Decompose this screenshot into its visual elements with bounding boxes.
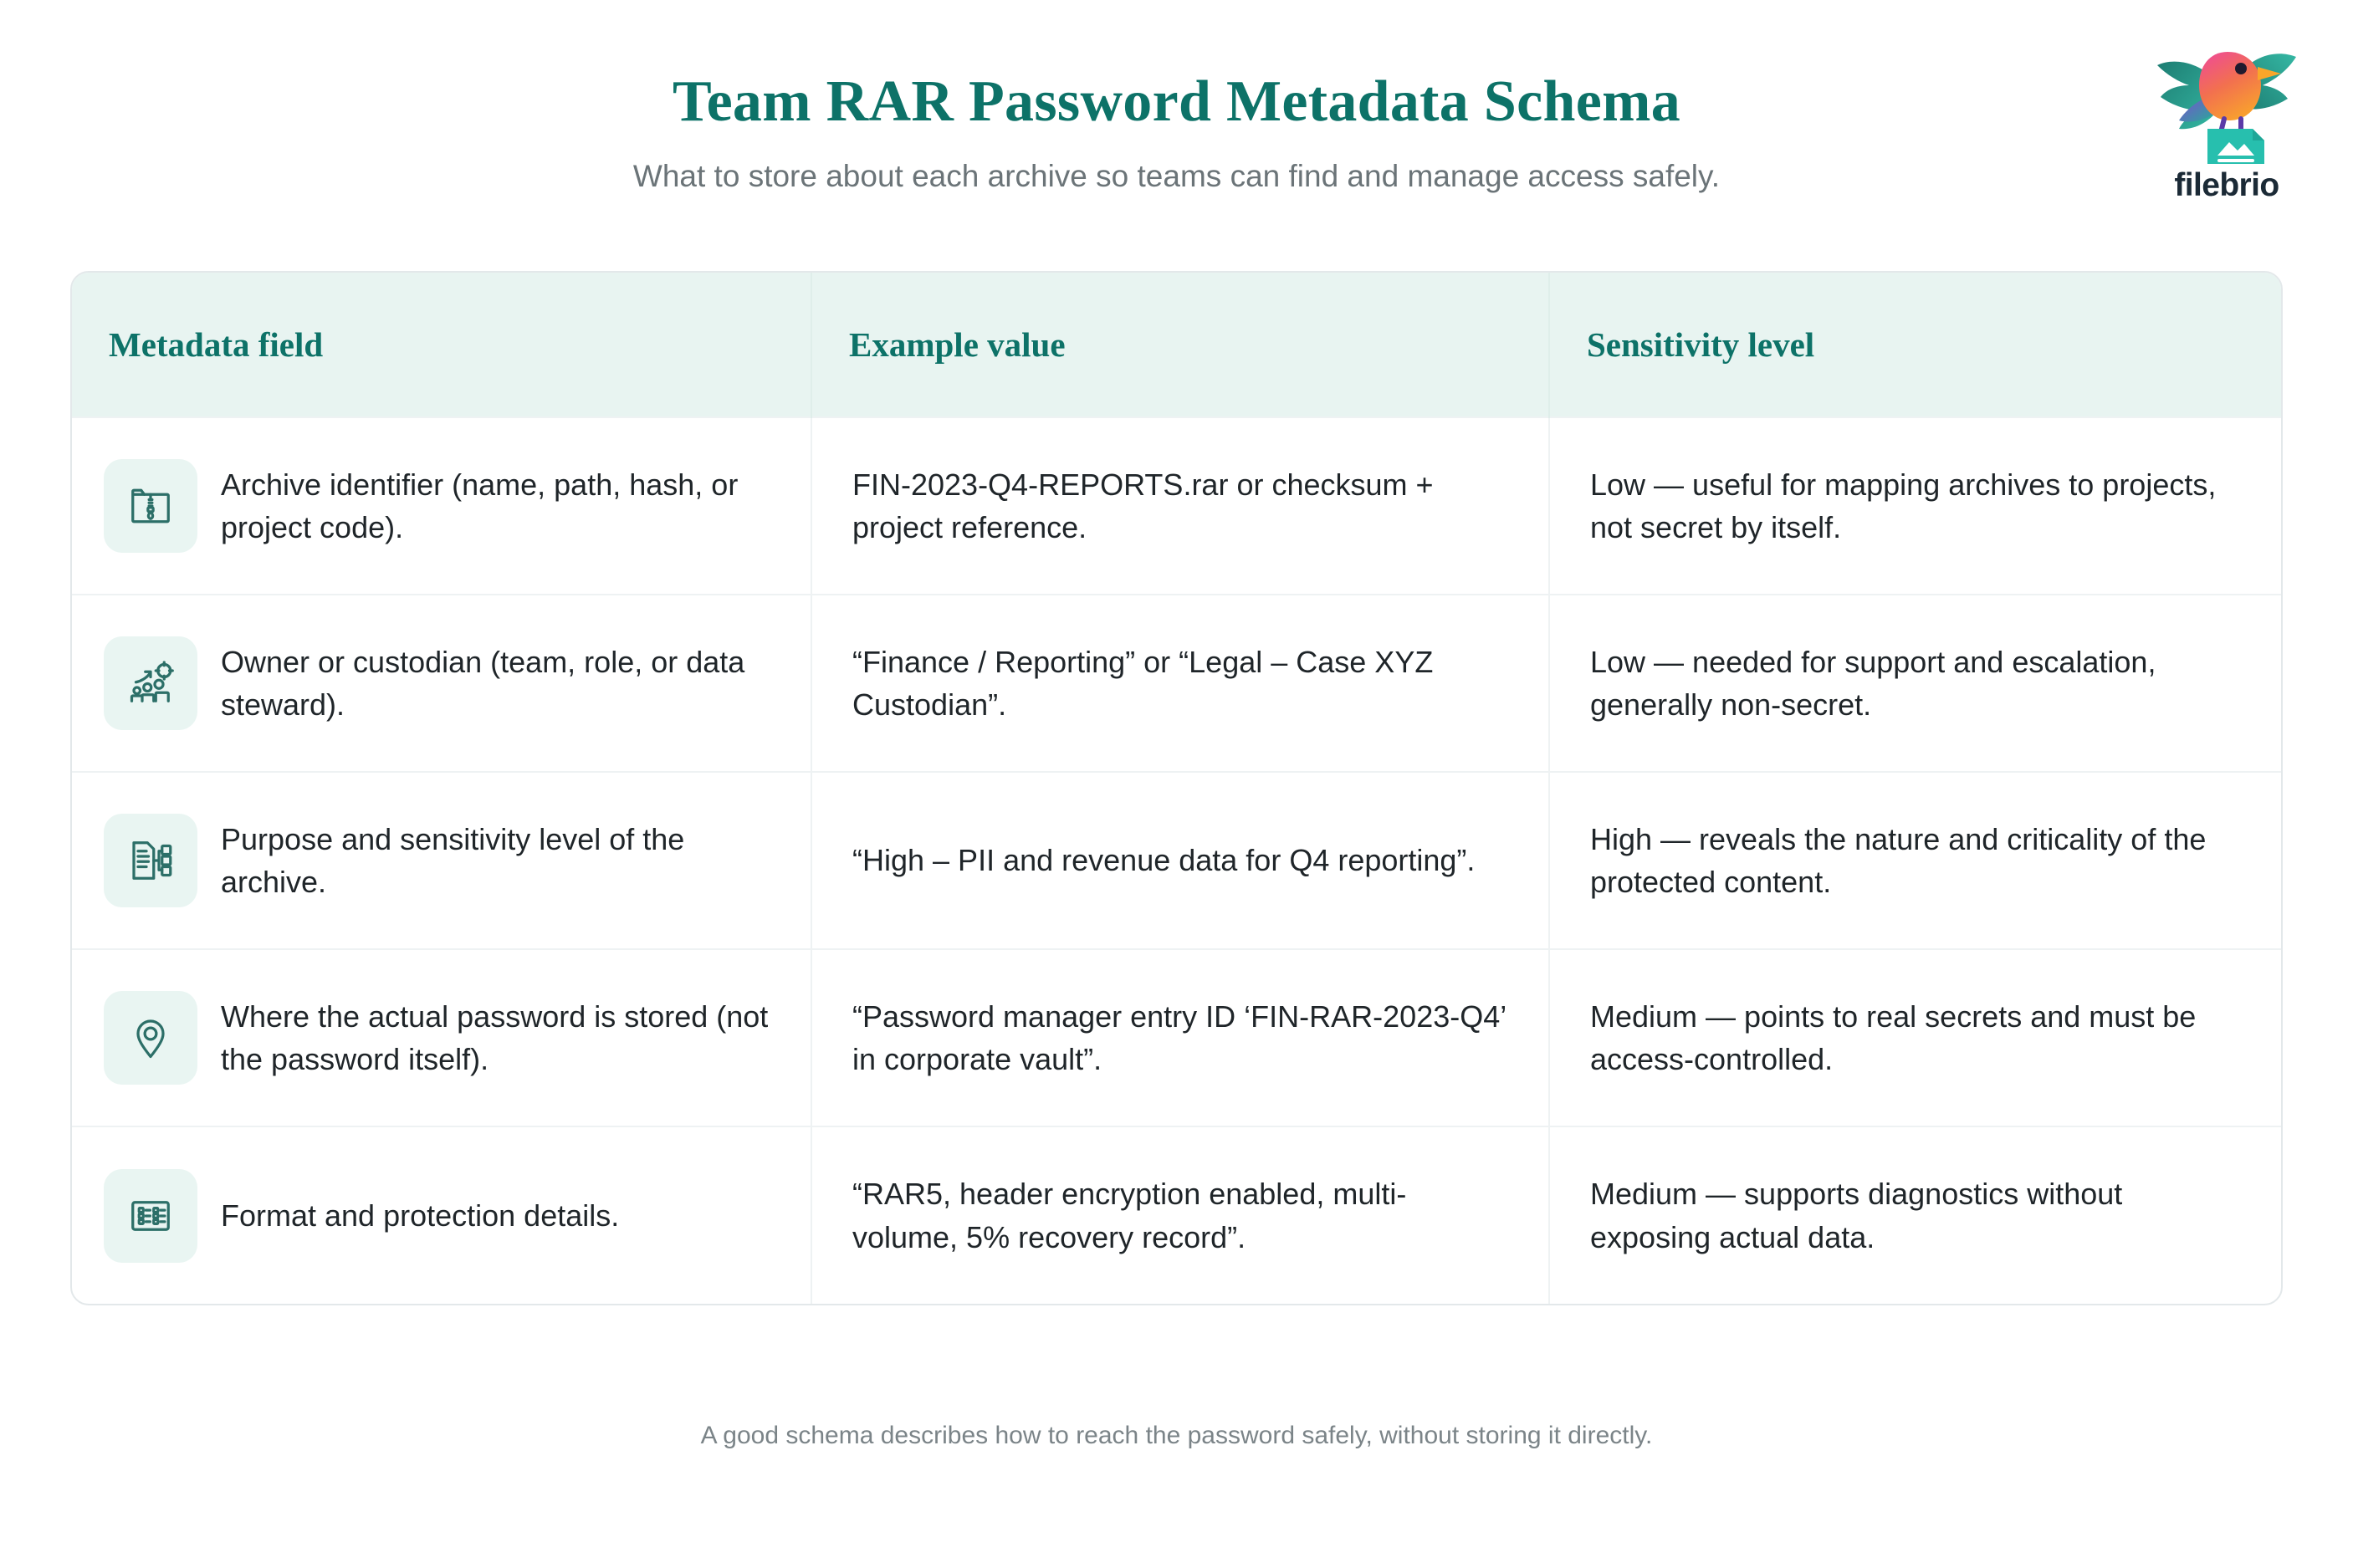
example-value-text: “RAR5, header encryption enabled, multi-… [852,1177,1406,1254]
example-value-cell: “Password manager entry ID ‘FIN-RAR-2023… [811,949,1549,1126]
filebrio-bird-logo [2147,38,2306,164]
metadata-field-text: Where the actual password is stored (not… [221,995,774,1080]
example-value-text: “Finance / Reporting” or “Legal – Case X… [852,645,1433,722]
metadata-field-cell: Purpose and sensitivity level of the arc… [72,772,811,949]
page-header: Team RAR Password Metadata Schema What t… [0,0,2353,194]
infographic-page: Team RAR Password Metadata Schema What t… [0,0,2353,1568]
sensitivity-level-text: Low — needed for support and escalation,… [1590,645,2156,722]
page-subtitle: What to store about each archive so team… [0,159,2353,194]
logo-wordmark: filebrio [2136,167,2318,204]
example-value-cell: “RAR5, header encryption enabled, multi-… [811,1126,1549,1304]
table-row: Archive identifier (name, path, hash, or… [72,417,2283,595]
sensitivity-level-text: Medium — points to real secrets and must… [1590,999,2196,1076]
metadata-field-text: Archive identifier (name, path, hash, or… [221,463,774,549]
sensitivity-level-text: Low — useful for mapping archives to pro… [1590,467,2216,544]
example-value-cell: “High – PII and revenue data for Q4 repo… [811,772,1549,949]
metadata-field-cell: Where the actual password is stored (not… [72,949,811,1126]
sensitivity-level-cell: High — reveals the nature and criticalit… [1549,772,2283,949]
zip-folder-icon [104,459,197,553]
sensitivity-level-text: High — reveals the nature and criticalit… [1590,822,2206,899]
schema-table: Metadata field Example value Sensitivity… [72,273,2283,1304]
table-row: Owner or custodian (team, role, or data … [72,595,2283,772]
location-pin-icon [104,991,197,1085]
metadata-field-text: Owner or custodian (team, role, or data … [221,641,774,726]
brand-logo: filebrio [2136,38,2318,204]
schema-table-card: Metadata field Example value Sensitivity… [70,271,2283,1305]
table-header-row: Metadata field Example value Sensitivity… [72,273,2283,417]
metadata-field-text: Purpose and sensitivity level of the arc… [221,818,774,903]
column-header-sensitivity-level: Sensitivity level [1549,273,2283,417]
table-row: Where the actual password is stored (not… [72,949,2283,1126]
sensitivity-level-text: Medium — supports diagnostics without ex… [1590,1177,2122,1254]
team-growth-target-icon [104,636,197,730]
sensitivity-level-cell: Medium — points to real secrets and must… [1549,949,2283,1126]
example-value-text: FIN-2023-Q4-REPORTS.rar or checksum + pr… [852,467,1434,544]
column-header-metadata-field: Metadata field [72,273,811,417]
metadata-field-text: Format and protection details. [221,1194,619,1237]
table-row: Format and protection details. “RAR5, he… [72,1126,2283,1304]
example-value-cell: “Finance / Reporting” or “Legal – Case X… [811,595,1549,772]
spec-list-icon [104,1169,197,1263]
sensitivity-level-cell: Low — useful for mapping archives to pro… [1549,417,2283,595]
sensitivity-level-cell: Low — needed for support and escalation,… [1549,595,2283,772]
page-title: Team RAR Password Metadata Schema [0,70,2353,134]
metadata-field-cell: Archive identifier (name, path, hash, or… [72,417,811,595]
example-value-cell: FIN-2023-Q4-REPORTS.rar or checksum + pr… [811,417,1549,595]
footer-note: A good schema describes how to reach the… [0,1422,2353,1450]
metadata-field-cell: Format and protection details. [72,1126,811,1304]
metadata-field-cell: Owner or custodian (team, role, or data … [72,595,811,772]
document-classification-icon [104,814,197,907]
sensitivity-level-cell: Medium — supports diagnostics without ex… [1549,1126,2283,1304]
table-row: Purpose and sensitivity level of the arc… [72,772,2283,949]
example-value-text: “Password manager entry ID ‘FIN-RAR-2023… [852,999,1506,1076]
example-value-text: “High – PII and revenue data for Q4 repo… [852,843,1475,877]
column-header-example-value: Example value [811,273,1549,417]
